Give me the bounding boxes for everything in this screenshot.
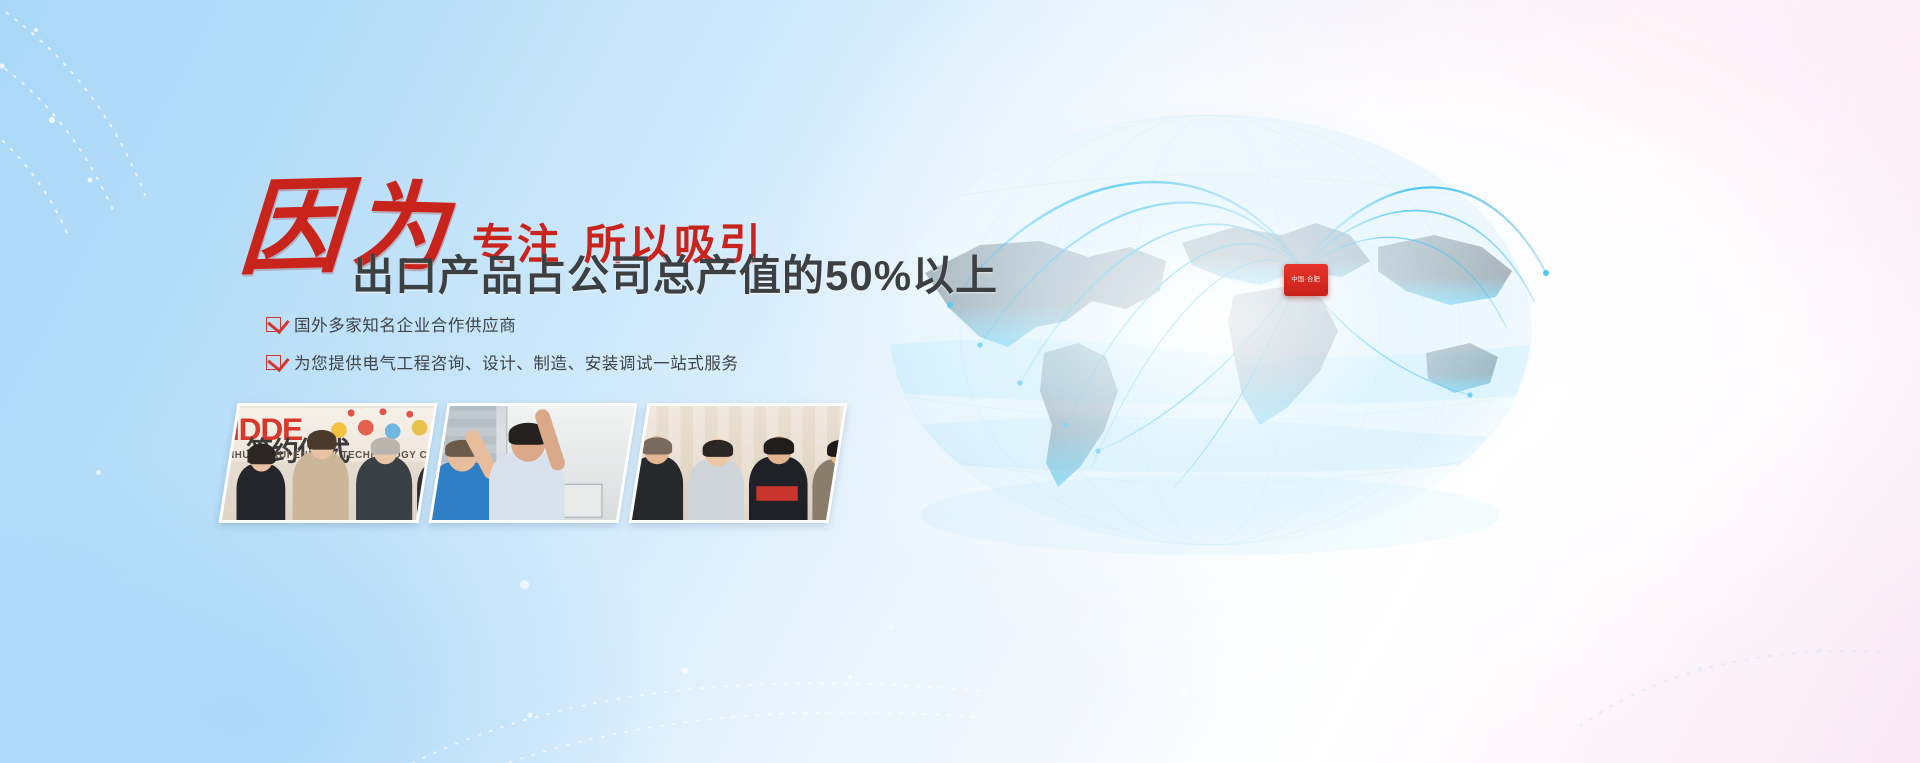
photo-signing-ceremony: HDDE 签约仪式 ANHUI HERUI ENERGY TECHNOLOGY … [218, 403, 437, 523]
calligraphy-char-1: 因 [236, 170, 349, 288]
photo-team-group [628, 403, 847, 523]
list-item: 国外多家知名企业合作供应商 [266, 312, 739, 336]
dotted-arc-decoration-right [1580, 523, 1880, 743]
banner-content: 因为 专注所以吸引 出口产品占公司总产值的50%以上 国外多家知名企业合作供应商… [0, 0, 1000, 763]
decor-dot [520, 580, 529, 589]
headline: 出口产品占公司总产值的50%以上 [352, 242, 998, 303]
promo-banner: 中国·合肥 因为 专注所以吸引 出口产品占公司总产值的50%以上 国外多家知名企… [0, 0, 1920, 763]
bullet-list: 国外多家知名企业合作供应商 为您提供电气工程咨询、设计、制造、安装调试一站式服务 [266, 312, 739, 388]
list-item: 为您提供电气工程咨询、设计、制造、安装调试一站式服务 [266, 350, 739, 374]
checkbox-checked-icon [266, 355, 281, 370]
decor-dot [96, 470, 101, 475]
decor-dot [1180, 690, 1187, 697]
photo-technicians-cabinet [428, 403, 637, 523]
map-marker-china: 中国·合肥 [1284, 264, 1328, 296]
decor-dot [888, 624, 894, 630]
map-marker-label: 中国·合肥 [1292, 276, 1321, 283]
bullet-text: 为您提供电气工程咨询、设计、制造、安装调试一站式服务 [294, 350, 739, 374]
bullet-text: 国外多家知名企业合作供应商 [294, 312, 516, 336]
photo-strip: HDDE 签约仪式 ANHUI HERUI ENERGY TECHNOLOGY … [218, 403, 857, 523]
checkbox-checked-icon [266, 317, 281, 332]
